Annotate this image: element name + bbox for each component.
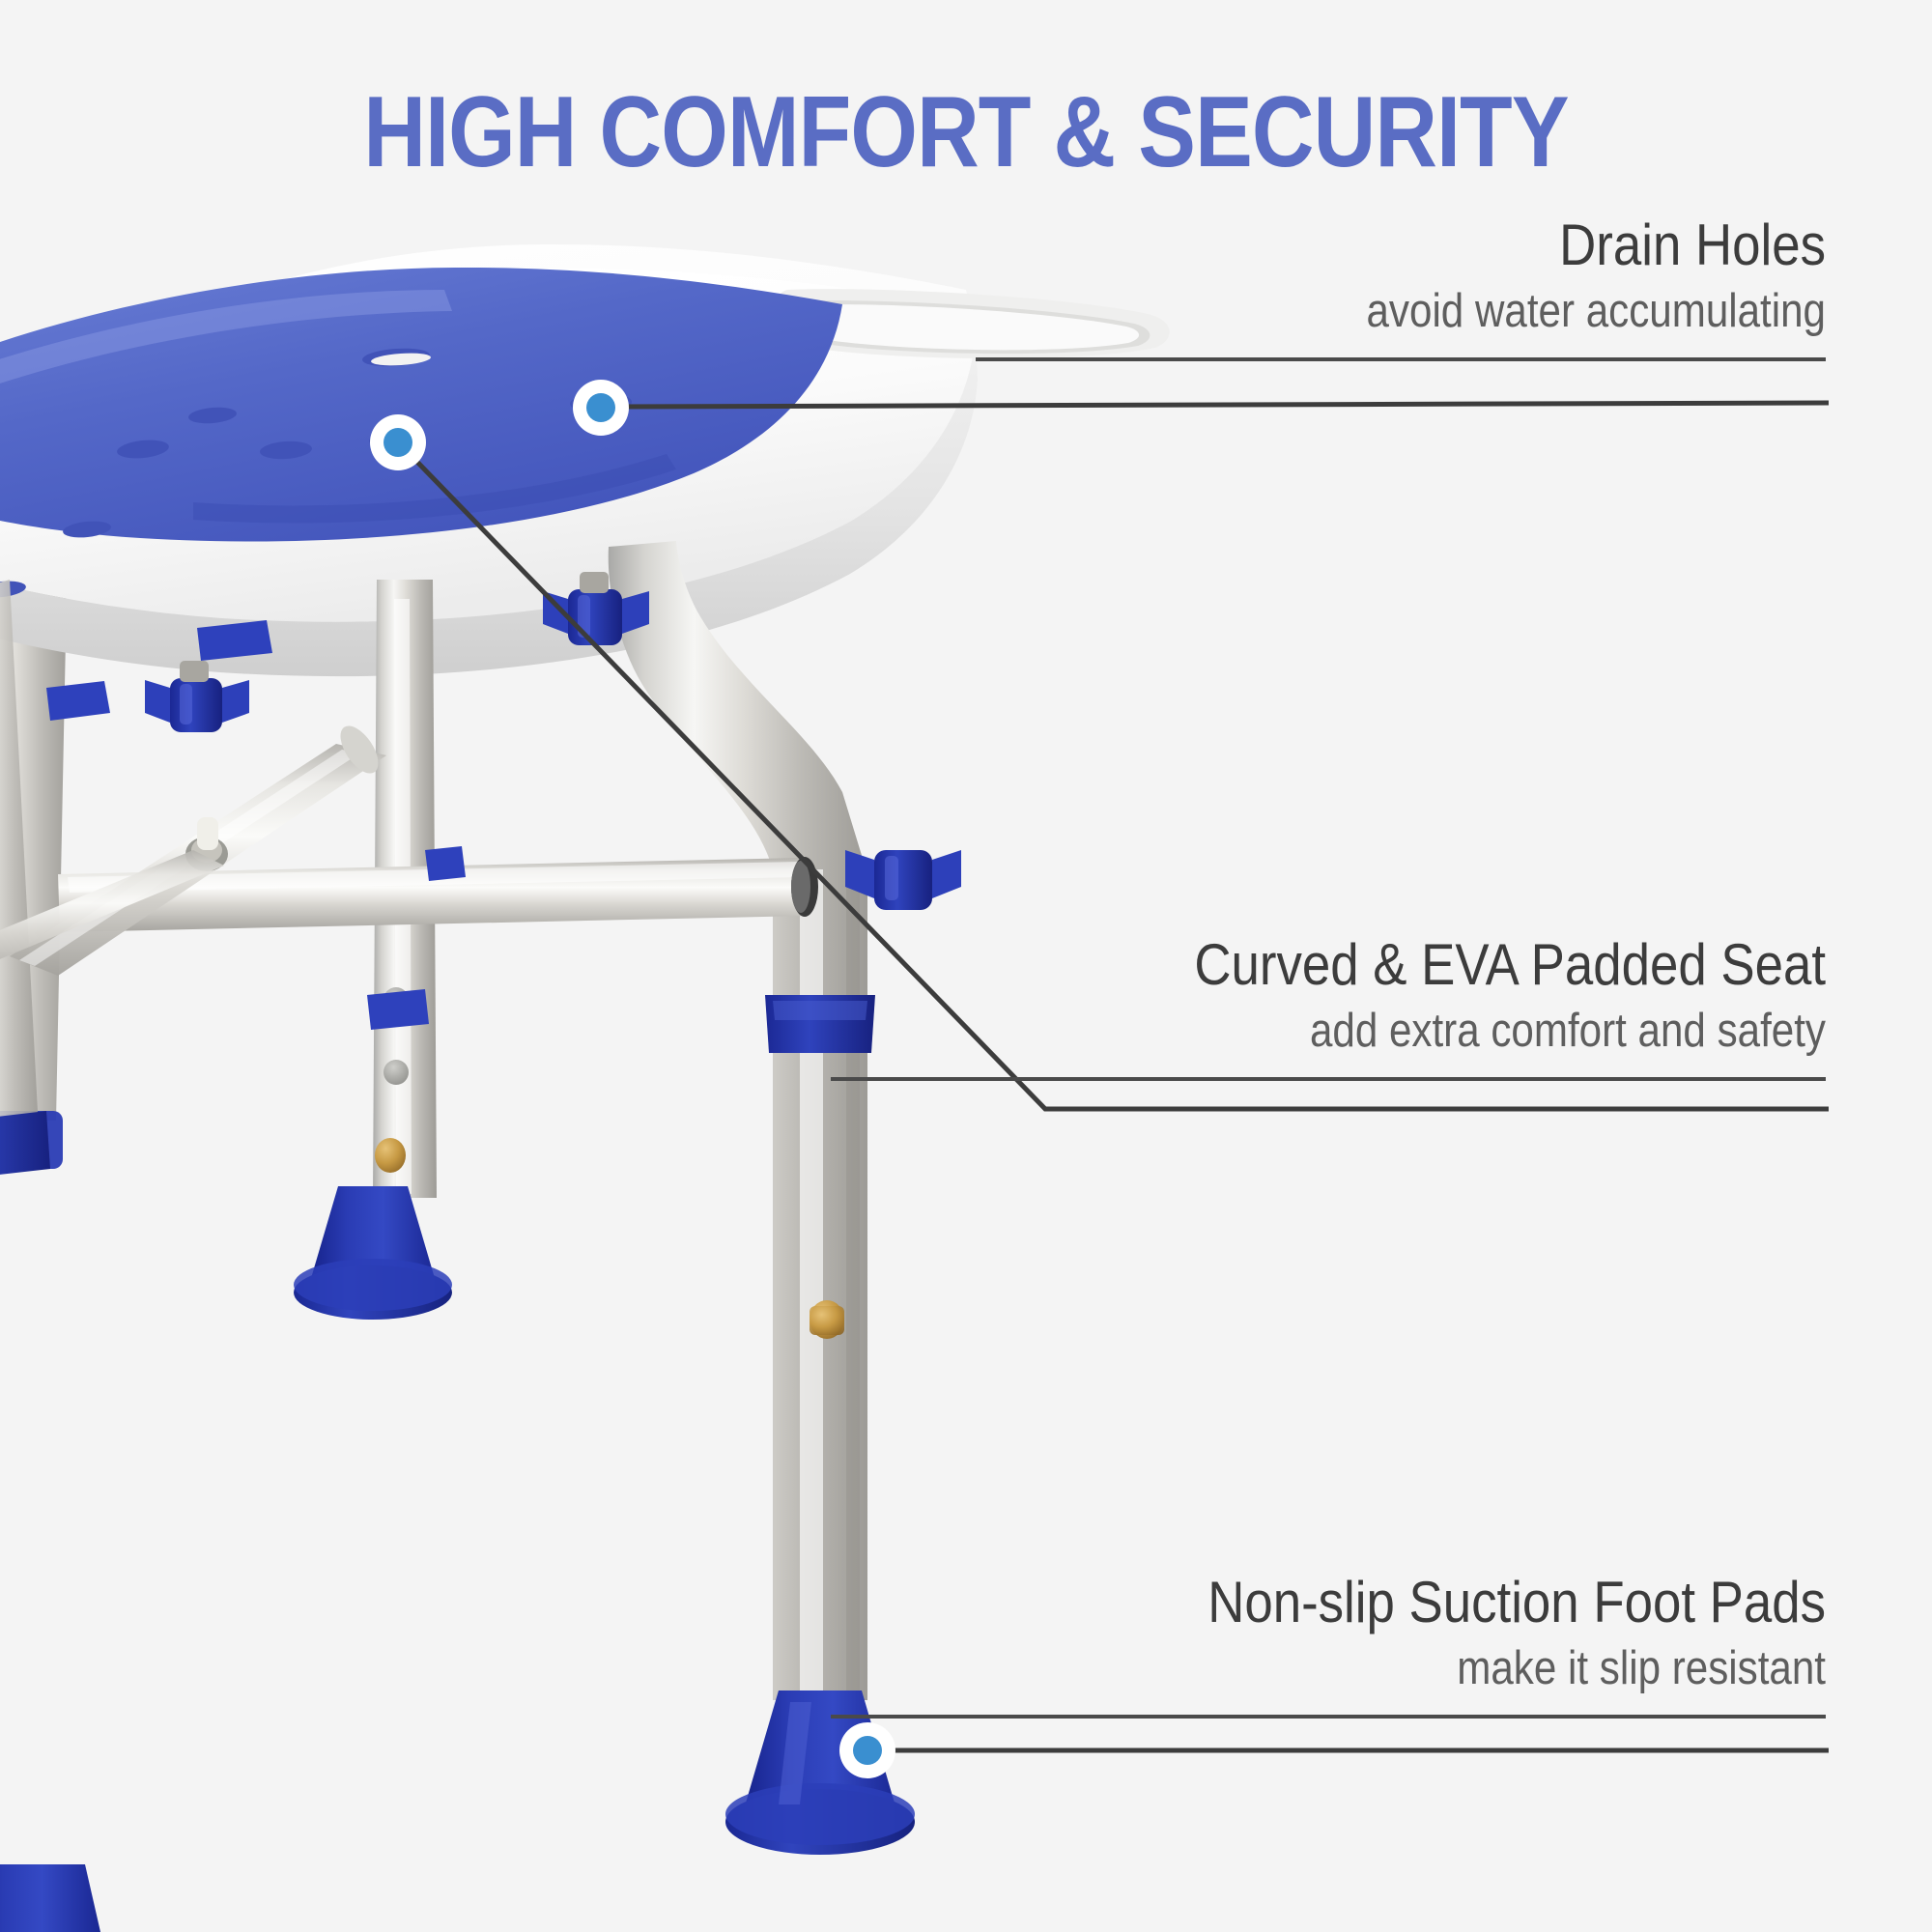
seat-clip-far-left bbox=[46, 681, 110, 721]
callout-title: Curved & EVA Padded Seat bbox=[951, 932, 1826, 997]
callout-subtitle: make it slip resistant bbox=[970, 1640, 1826, 1697]
callout-subtitle: add extra comfort and safety bbox=[970, 1003, 1826, 1060]
callout-title: Drain Holes bbox=[1078, 213, 1826, 277]
callout-curved-eva-padded-seat: Curved & EVA Padded Seat add extra comfo… bbox=[831, 932, 1826, 1081]
leg-collar bbox=[0, 1111, 50, 1183]
seat-clip-mid bbox=[425, 846, 466, 881]
suction-foot-pad-left bbox=[294, 1186, 452, 1320]
callout-rule bbox=[976, 357, 1826, 361]
callout-drain-holes: Drain Holes avoid water accumulating bbox=[976, 213, 1826, 361]
callout-subtitle: avoid water accumulating bbox=[1094, 283, 1826, 340]
callout-non-slip-suction-foot-pads: Non-slip Suction Foot Pads make it slip … bbox=[831, 1570, 1826, 1719]
callout-title: Non-slip Suction Foot Pads bbox=[951, 1570, 1826, 1634]
callout-rule bbox=[831, 1715, 1826, 1719]
front-left-leg bbox=[294, 580, 452, 1320]
brace-clip bbox=[367, 989, 429, 1030]
bottom-cropped-foot bbox=[0, 1864, 100, 1932]
callout-rule bbox=[831, 1077, 1826, 1081]
leg-collar bbox=[365, 1125, 446, 1164]
